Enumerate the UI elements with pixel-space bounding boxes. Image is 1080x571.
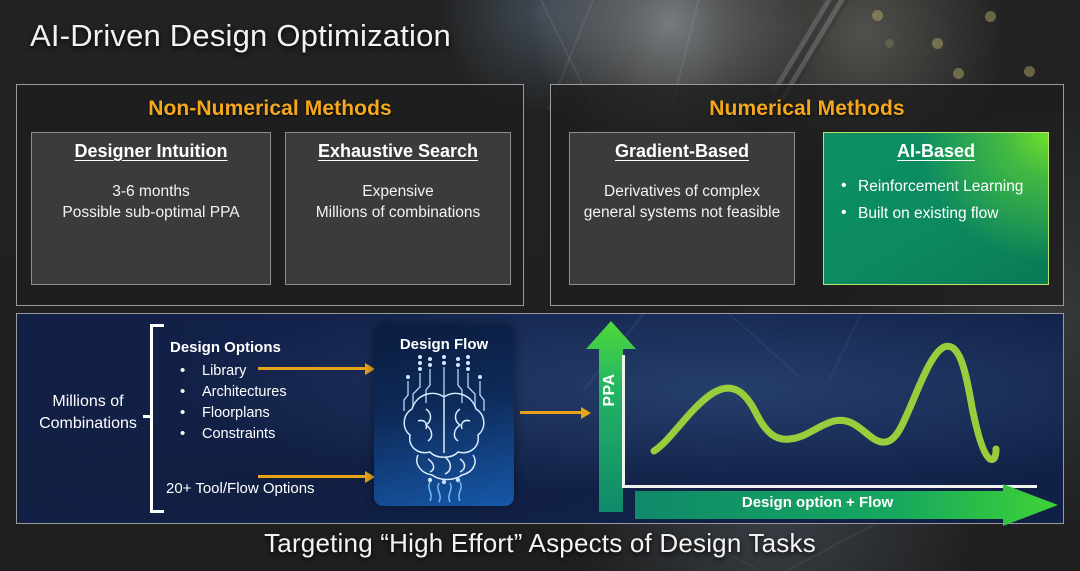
- card-title-ai-based: AI-Based: [824, 141, 1048, 162]
- card-ai-based[interactable]: AI-Based Reinforcement Learning Built on…: [823, 132, 1049, 285]
- card-exhaustive-search[interactable]: Exhaustive Search ExpensiveMillions of c…: [285, 132, 511, 285]
- slide-root: AI-Driven Design Optimization Non-Numeri…: [0, 0, 1080, 571]
- design-option-flow-label: Design option + Flow: [635, 494, 1000, 511]
- card-designer-intuition[interactable]: Designer Intuition 3-6 monthsPossible su…: [31, 132, 271, 285]
- grouping-bracket-tick: [143, 415, 152, 418]
- background-solder-dot: [1024, 66, 1035, 77]
- design-option-flow-arrow: Design option + Flow: [635, 483, 1060, 527]
- ppa-performance-curve: [648, 333, 1008, 473]
- ppa-axis-label: PPA: [601, 350, 619, 430]
- design-flow-tile[interactable]: Design Flow: [374, 325, 514, 506]
- design-options-list: Library Architectures Floorplans Constra…: [176, 361, 287, 445]
- list-item: Library: [176, 361, 287, 382]
- panel-numerical-methods: Numerical Methods Gradient-Based Derivat…: [550, 84, 1064, 306]
- background-solder-dot: [932, 38, 943, 49]
- list-item: Constraints: [176, 424, 287, 445]
- ai-brain-circuit-icon: [374, 325, 514, 506]
- card-title-designer-intuition: Designer Intuition: [32, 141, 270, 162]
- panel-title-non-numerical: Non-Numerical Methods: [17, 97, 523, 121]
- page-title: AI-Driven Design Optimization: [30, 18, 451, 54]
- card-body-designer-intuition: 3-6 monthsPossible sub-optimal PPA: [40, 181, 262, 223]
- slide-caption: Targeting “High Effort” Aspects of Desig…: [0, 528, 1080, 559]
- background-solder-dot: [885, 39, 894, 48]
- card-gradient-based[interactable]: Gradient-Based Derivatives of complex ge…: [569, 132, 795, 285]
- list-item: Reinforcement Learning: [840, 177, 1040, 197]
- tool-flow-options-label: 20+ Tool/Flow Options: [166, 480, 315, 497]
- background-solder-dot: [953, 68, 964, 79]
- orange-arrow-design-options-icon: [258, 367, 366, 370]
- orange-arrow-tool-flow-icon: [258, 475, 366, 478]
- list-item: Architectures: [176, 382, 287, 403]
- orange-arrow-to-ppa-icon: [520, 411, 582, 414]
- chart-y-axis-line: [622, 355, 625, 488]
- card-body-exhaustive-search: ExpensiveMillions of combinations: [294, 181, 502, 223]
- design-options-heading: Design Options: [170, 339, 281, 356]
- card-bullets-ai-based: Reinforcement Learning Built on existing…: [840, 177, 1040, 231]
- panel-non-numerical-methods: Non-Numerical Methods Designer Intuition…: [16, 84, 524, 306]
- millions-of-combinations-label: Millions ofCombinations: [28, 391, 148, 435]
- list-item: Floorplans: [176, 403, 287, 424]
- list-item: Built on existing flow: [840, 204, 1040, 224]
- background-solder-dot: [872, 10, 883, 21]
- panel-title-numerical: Numerical Methods: [551, 97, 1063, 121]
- background-solder-dot: [985, 11, 996, 22]
- card-title-exhaustive-search: Exhaustive Search: [286, 141, 510, 162]
- card-title-gradient-based: Gradient-Based: [570, 141, 794, 162]
- card-body-gradient-based: Derivatives of complex general systems n…: [578, 181, 786, 223]
- grouping-bracket: [150, 324, 164, 513]
